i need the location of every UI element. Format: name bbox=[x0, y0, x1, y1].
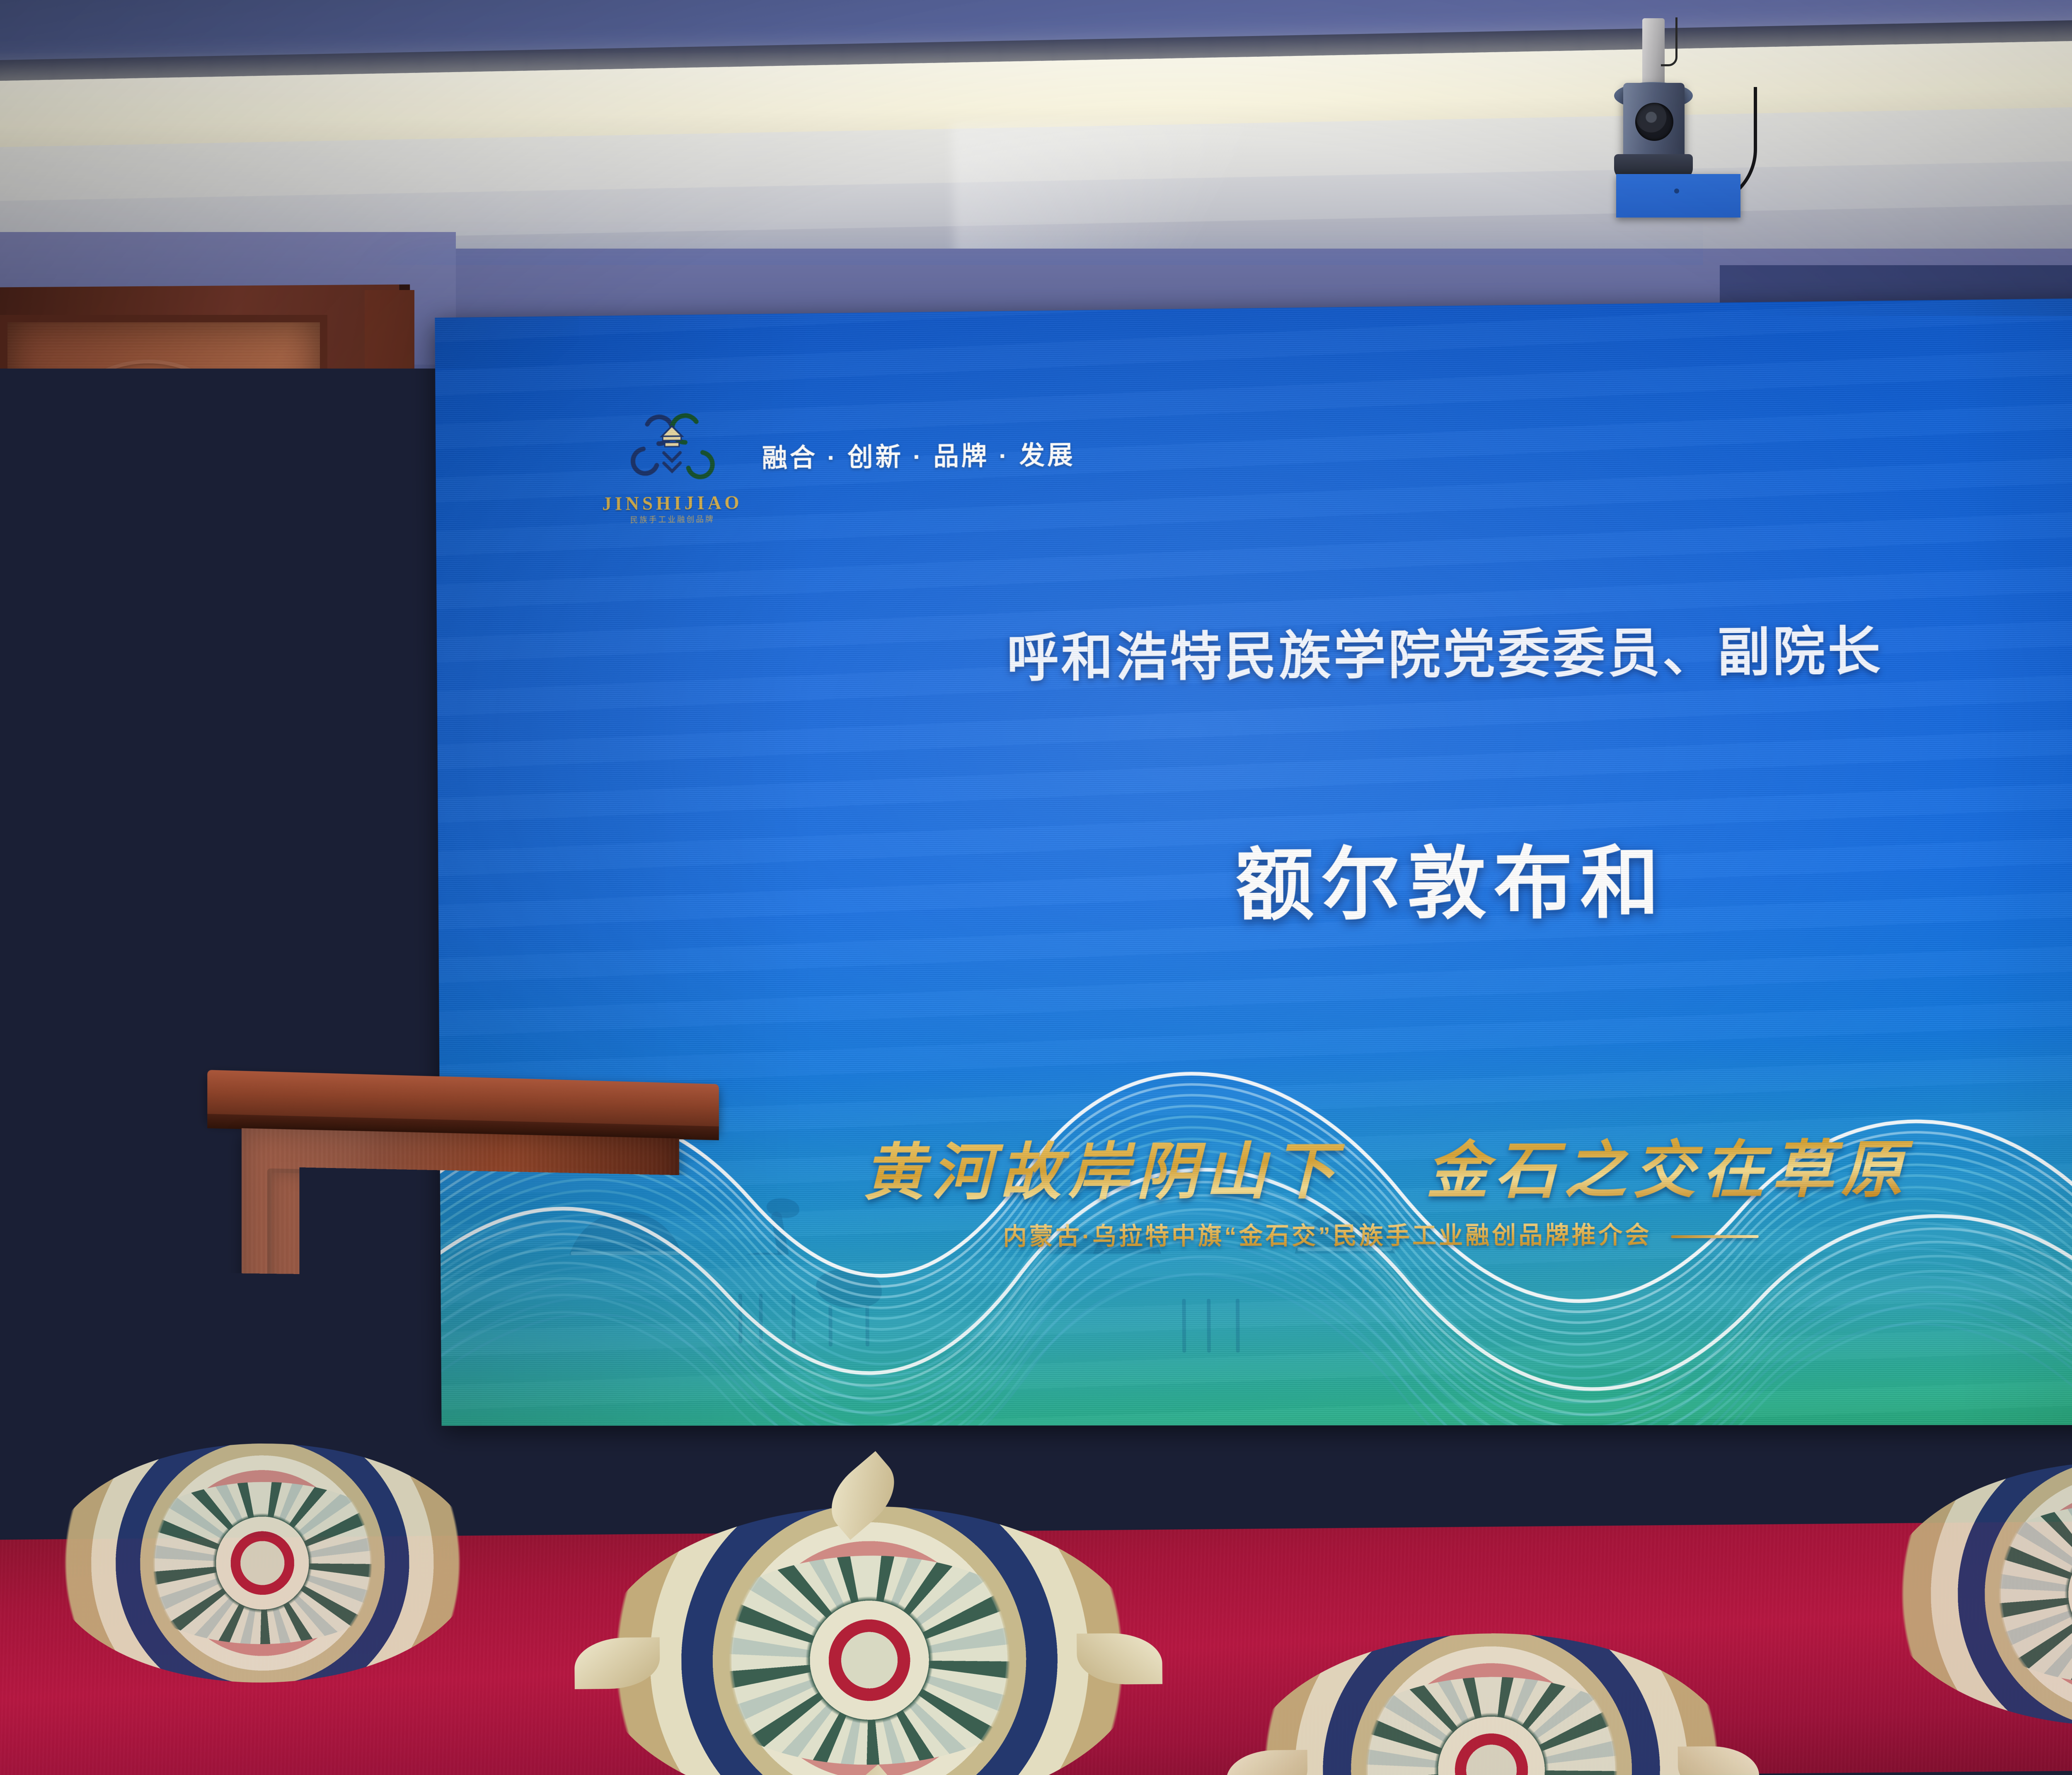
eyeglasses-lens-right bbox=[472, 856, 528, 890]
patterned-carpet bbox=[0, 1519, 2072, 1775]
mouth bbox=[440, 926, 492, 938]
nose bbox=[454, 883, 477, 915]
eyeglasses-lens-left bbox=[399, 856, 455, 890]
blue-ceiling-panel bbox=[1616, 174, 1740, 218]
camera-lens-icon bbox=[1635, 103, 1673, 141]
camera-cable-hook bbox=[1661, 17, 1677, 66]
eyeglasses-bridge bbox=[455, 867, 472, 870]
ceiling-sheen bbox=[952, 116, 1327, 260]
door-handle[interactable] bbox=[99, 1028, 122, 1119]
photo-scene: JINSHIJIAO 民族手工业融创品牌 融合 · 创新 · 品牌 · 发展 呼… bbox=[0, 0, 2072, 1775]
panel-screw bbox=[1674, 189, 1679, 193]
